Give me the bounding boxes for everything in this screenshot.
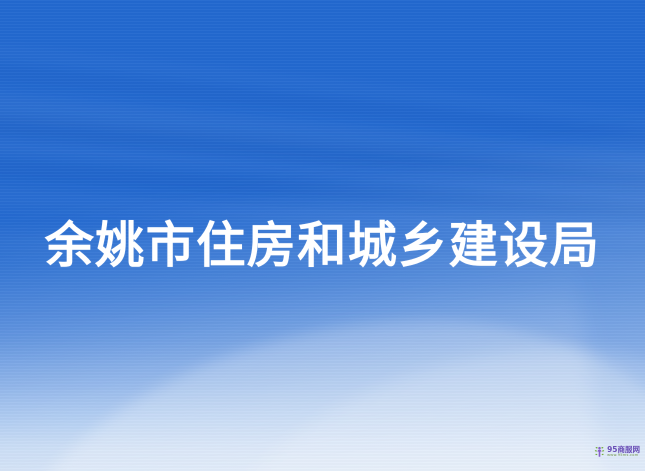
site-banner: 余姚市住房和城乡建设局 95商服网 www.95ms.com [0,0,645,471]
watermark-site-url: www.95ms.com [607,454,640,458]
people-leaf-logo-icon [594,446,605,458]
watermark: 95商服网 www.95ms.com [594,446,640,458]
banner-title-container: 余姚市住房和城乡建设局 [0,216,645,276]
page-title: 余姚市住房和城乡建设局 [45,216,601,276]
watermark-text: 95商服网 www.95ms.com [607,446,640,458]
watermark-site-name: 95商服网 [607,446,640,454]
